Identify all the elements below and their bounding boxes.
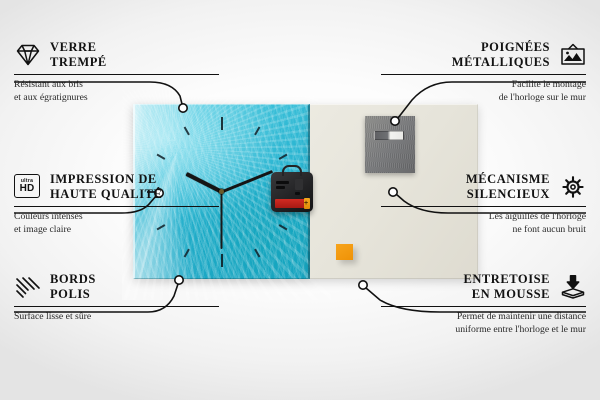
- polished-edge-lines-icon: [14, 274, 41, 299]
- feature-description: Couleurs intenses et image claire: [14, 211, 219, 237]
- title-rule: [14, 74, 219, 76]
- feature-title: MÉCANISME SILENCIEUX: [466, 172, 550, 202]
- title-rule: [14, 306, 219, 308]
- infographic-canvas: +: [0, 0, 600, 400]
- feature-mecanisme-silencieux: MÉCANISME SILENCIEUX Les aiguilles de l'…: [381, 172, 586, 237]
- feature-impression-haute-qualite: ultra HD IMPRESSION DE HAUTE QUALITÉ Cou…: [14, 172, 219, 237]
- title-rule: [381, 206, 586, 208]
- feature-description: Permet de maintenir une distance uniform…: [381, 311, 586, 337]
- feature-title: POIGNÉES MÉTALLIQUES: [452, 40, 550, 70]
- feature-description: Surface lisse et sûre: [14, 311, 219, 324]
- title-rule: [381, 306, 586, 308]
- gear-icon: [559, 174, 586, 199]
- feature-bords-polis: BORDS POLIS Surface lisse et sûre: [14, 272, 219, 324]
- picture-frame-icon: [559, 42, 586, 67]
- connector-dot-poignees: [391, 117, 399, 125]
- feature-entretoise-en-mousse: ENTRETOISE EN MOUSSE Permet de maintenir…: [381, 272, 586, 337]
- feature-description: Résistant aux bris et aux égratignures: [14, 79, 219, 105]
- feature-verre-trempe: VERRE TREMPÉ Résistant aux bris et aux é…: [14, 40, 219, 105]
- feature-title: BORDS POLIS: [50, 272, 96, 302]
- feature-title: ENTRETOISE EN MOUSSE: [463, 272, 550, 302]
- foam-spacer-arrow-icon: [559, 274, 586, 299]
- feature-poignees-metalliques: POIGNÉES MÉTALLIQUES Facilite le montage…: [381, 40, 586, 105]
- connector-dot-entretoise: [359, 281, 367, 289]
- feature-description: Facilite le montage de l'horloge sur le …: [381, 79, 586, 105]
- title-rule: [14, 206, 219, 208]
- feature-title: VERRE TREMPÉ: [50, 40, 107, 70]
- feature-title: IMPRESSION DE HAUTE QUALITÉ: [50, 172, 162, 202]
- ultra-hd-badge-icon: ultra HD: [14, 174, 41, 199]
- feature-description: Les aiguilles de l'horloge ne font aucun…: [381, 211, 586, 237]
- diamond-icon: [14, 42, 41, 67]
- connector-dot-verre-trempe: [179, 104, 187, 112]
- title-rule: [381, 74, 586, 76]
